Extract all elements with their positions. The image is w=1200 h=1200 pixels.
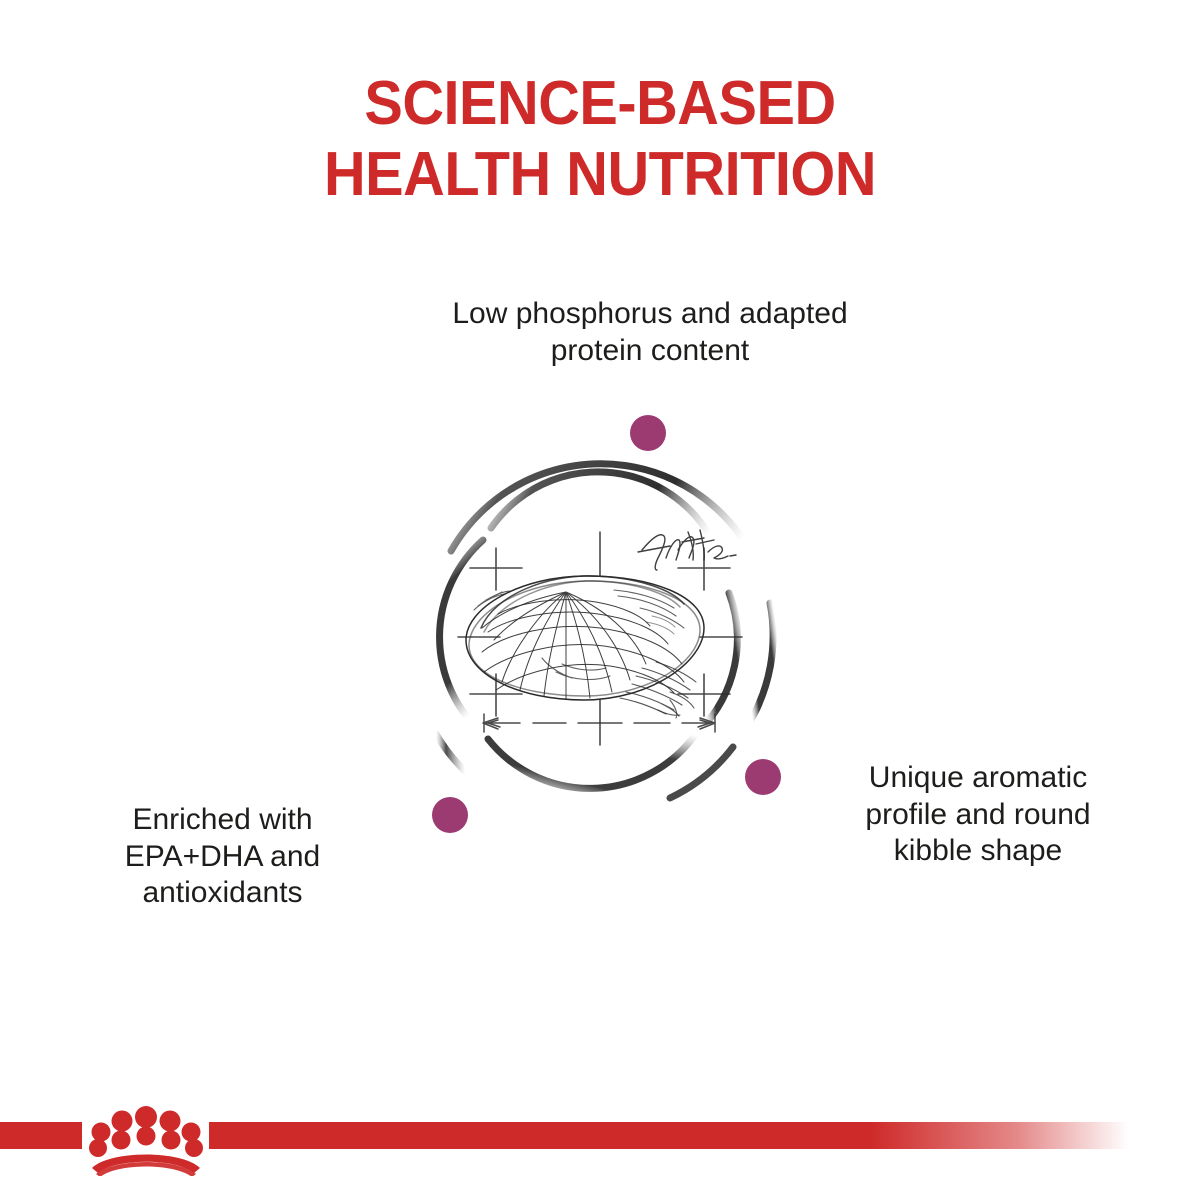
feature-label-left-line-1: Enriched with: [132, 803, 312, 836]
kibble-sketch: [458, 530, 742, 745]
footer-bar-right: [209, 1122, 1129, 1149]
feature-label-top-line-2: protein content: [551, 334, 749, 367]
infographic-page: SCIENCE-BASED HEALTH NUTRITION Low phosp…: [0, 0, 1200, 1200]
marker-dots: [432, 415, 781, 833]
page-title: SCIENCE-BASED HEALTH NUTRITION: [42, 68, 1158, 211]
feature-label-left-line-2: EPA+DHA and: [125, 840, 320, 873]
marker-dot-right: [745, 759, 781, 795]
feature-label-left-line-3: antioxidants: [142, 876, 302, 909]
crown-icon: [89, 1106, 203, 1176]
feature-label-right-line-3: kibble shape: [894, 834, 1062, 867]
feature-label-left: Enriched with EPA+DHA and antioxidants: [75, 802, 370, 912]
dimension-line: [483, 714, 715, 732]
marker-dot-bottom-left: [432, 797, 468, 833]
royal-canin-crown-logo: [82, 1100, 210, 1176]
feature-label-top-line-1: Low phosphorus and adapted: [452, 297, 847, 330]
footer: [0, 1100, 1200, 1200]
kibble-construction-strokes: [474, 590, 684, 718]
page-title-line-2: HEALTH NUTRITION: [42, 139, 1158, 210]
feature-label-right-line-2: profile and round: [865, 798, 1090, 831]
kibble-design-diagram: [370, 400, 840, 880]
footer-bar-left: [0, 1122, 82, 1149]
page-title-line-1: SCIENCE-BASED: [42, 68, 1158, 139]
marker-dot-top: [630, 415, 666, 451]
feature-label-right-line-1: Unique aromatic: [869, 761, 1087, 794]
feature-label-right: Unique aromatic profile and round kibble…: [828, 760, 1128, 870]
feature-label-top: Low phosphorus and adapted protein conte…: [340, 296, 960, 369]
